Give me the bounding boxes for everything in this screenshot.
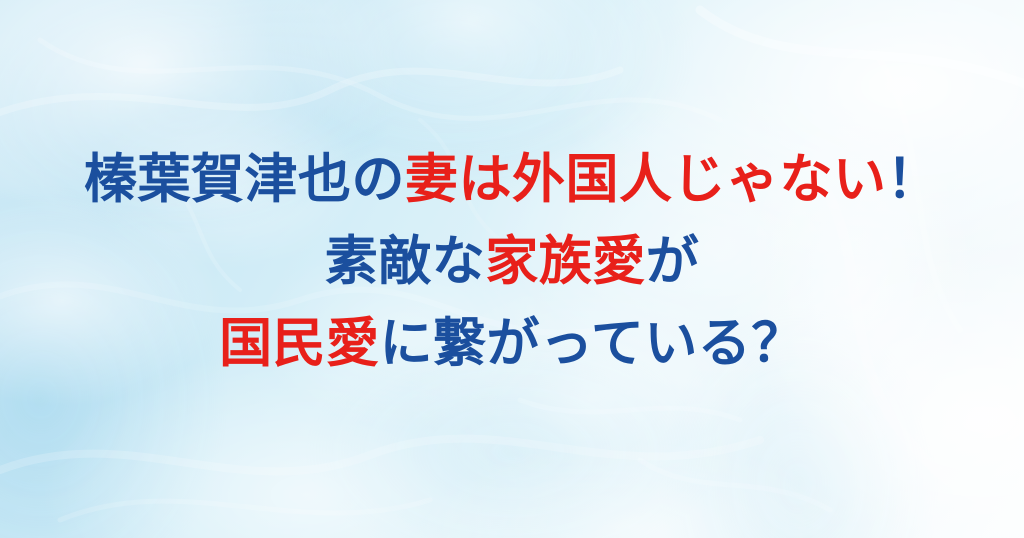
headline-line-2-segment-3: が [646, 231, 700, 292]
headline-line-1: 榛葉賀津也の妻は外国人じゃない！ [0, 139, 1024, 221]
headline-line-2-segment-2: 家族愛 [485, 231, 646, 292]
eyecatch-banner: 榛葉賀津也の妻は外国人じゃない！ 素敵な家族愛が 国民愛に繋がっている？ [0, 0, 1024, 538]
headline-text: 榛葉賀津也の妻は外国人じゃない！ 素敵な家族愛が 国民愛に繋がっている？ [0, 139, 1024, 385]
headline-line-2: 素敵な家族愛が [0, 221, 1024, 303]
headline-line-3: 国民愛に繋がっている？ [0, 303, 1024, 385]
headline-line-1-segment-3: ！ [887, 149, 941, 210]
headline-line-3-segment-2: に繋がっている？ [380, 313, 805, 374]
headline-line-2-segment-1: 素敵な [325, 231, 486, 292]
headline-line-3-segment-1: 国民愛 [219, 313, 380, 374]
headline-line-1-segment-2: 妻は外国人じゃない [405, 149, 887, 210]
headline-line-1-segment-1: 榛葉賀津也の [84, 149, 405, 210]
